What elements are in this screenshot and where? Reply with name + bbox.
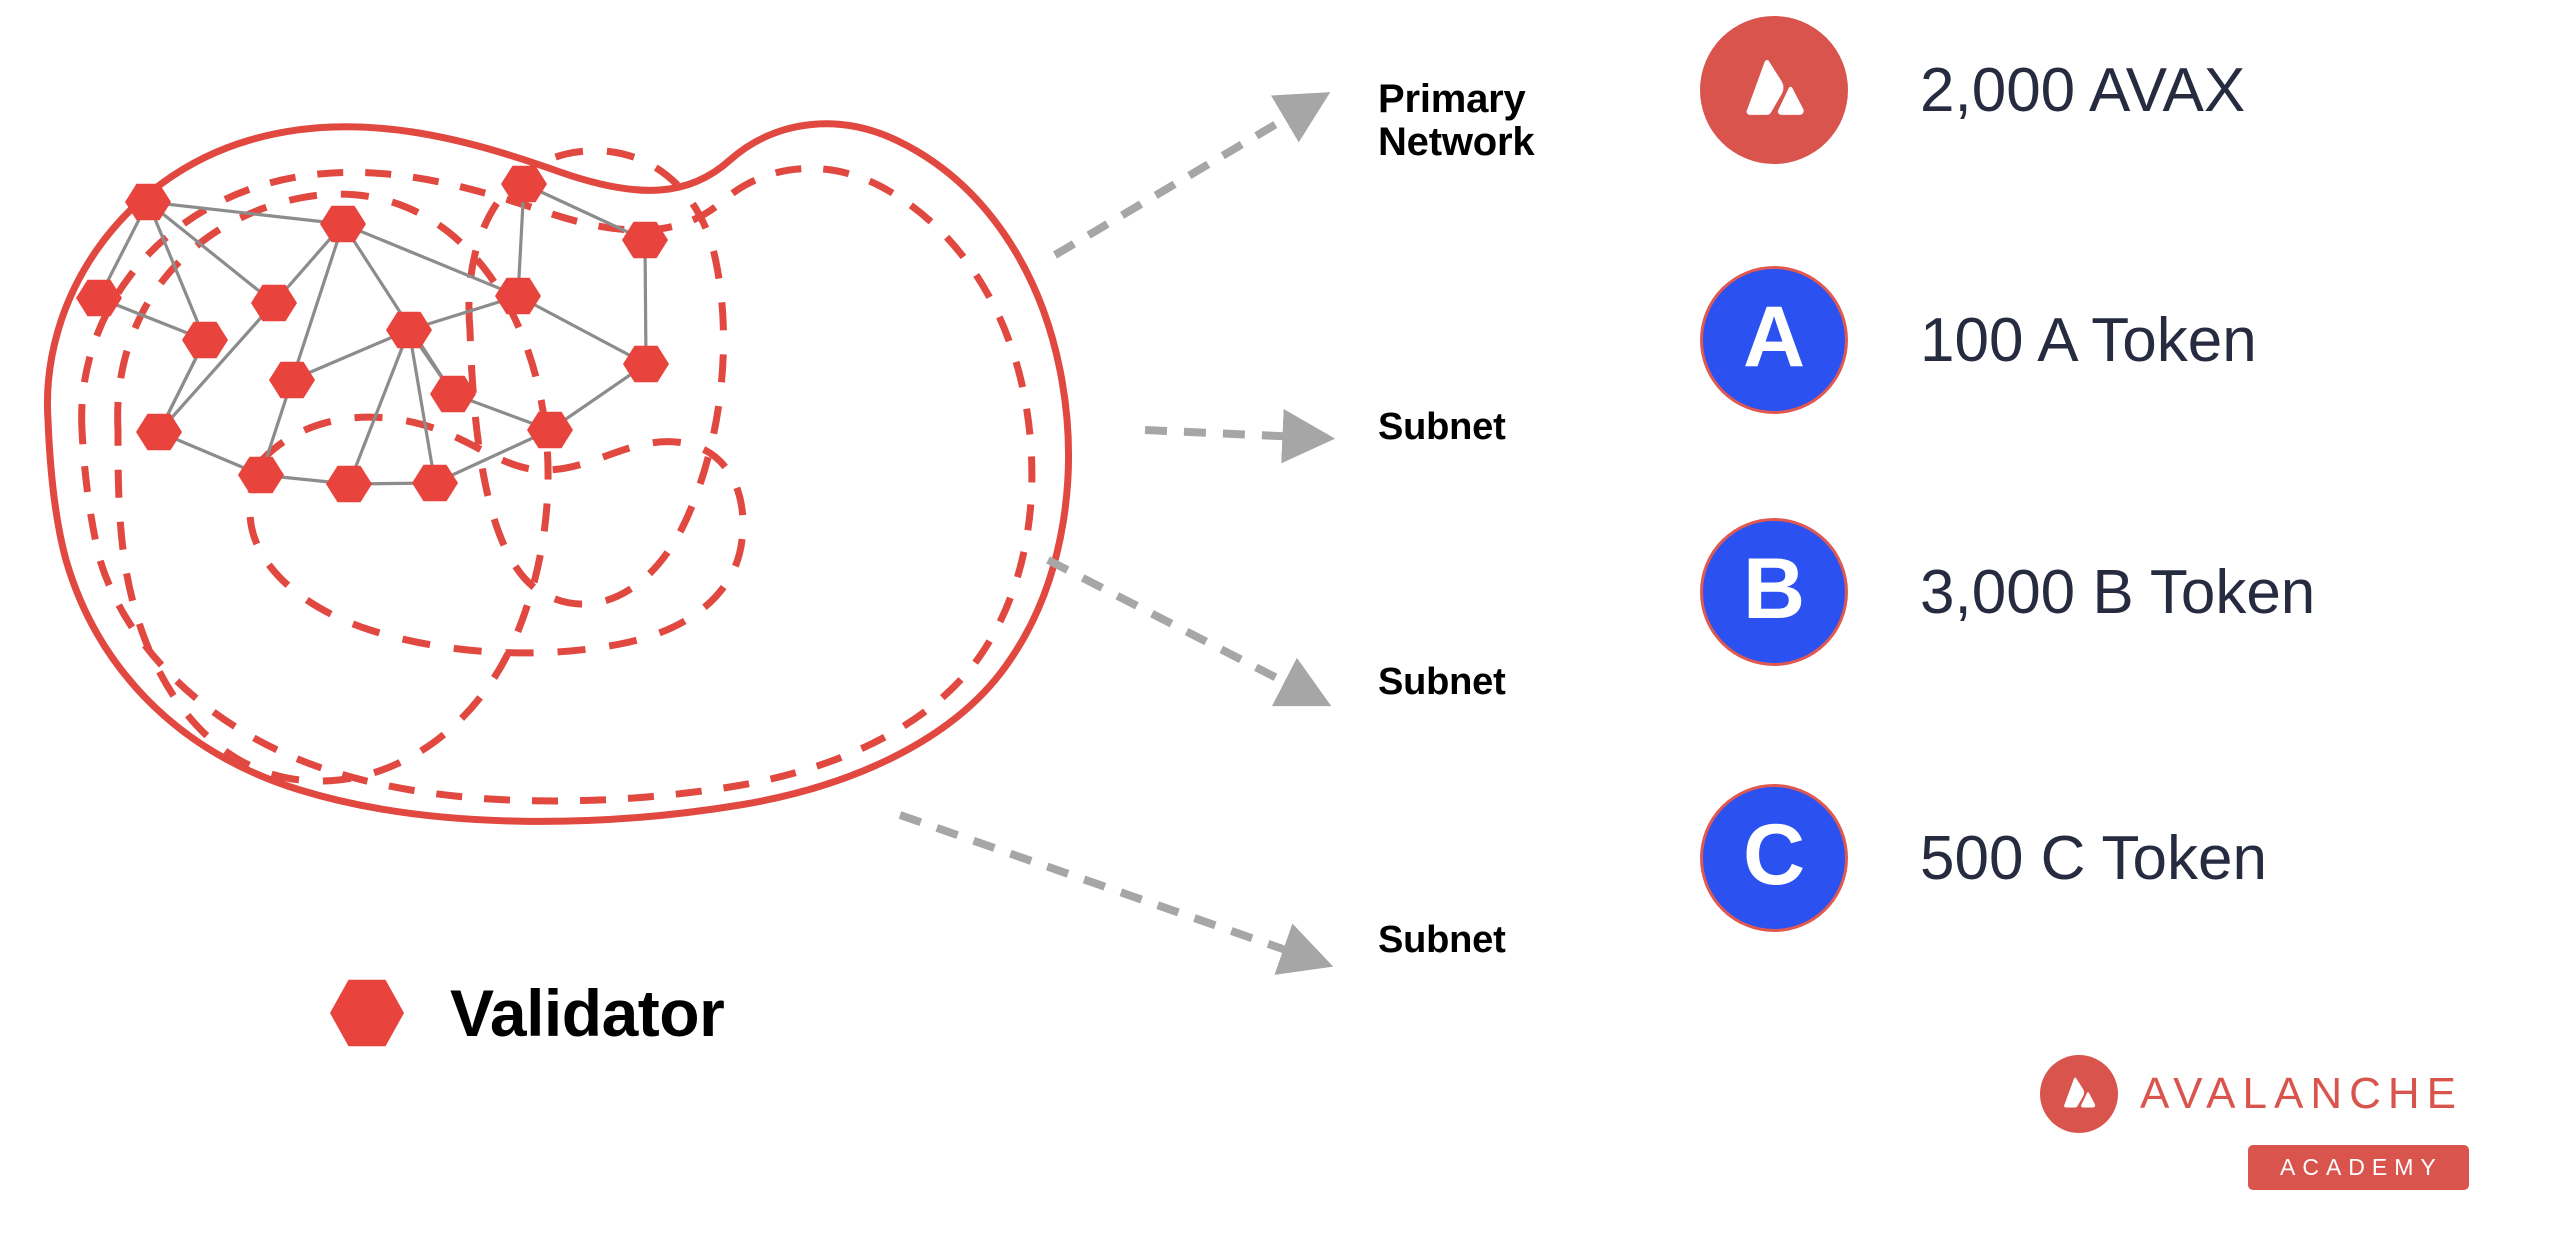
callout-subnet-c: Subnet [1378, 920, 1506, 961]
avax-logo-icon [1700, 16, 1848, 164]
validator-node [269, 362, 315, 399]
validator-legend: Validator [330, 975, 724, 1051]
network-edge [148, 202, 274, 303]
validator-legend-label: Validator [450, 975, 724, 1051]
validator-node [136, 414, 182, 451]
subnet-a-badge: A [1700, 266, 1848, 414]
subnet-b-badge: B [1700, 518, 1848, 666]
network-edge [518, 296, 646, 364]
token-requirements-list: 2,000 AVAX A 100 A Token B 3,000 B Token… [1700, 0, 2558, 1000]
avalanche-mark-icon [2040, 1055, 2118, 1133]
row-subnet-c: C 500 C Token [1700, 778, 2267, 938]
row-subnet-a: A 100 A Token [1700, 260, 2257, 420]
network-diagram [0, 0, 1460, 1000]
network-edge [292, 224, 343, 380]
validator-node [495, 278, 541, 315]
amount-primary-network: 2,000 AVAX [1920, 55, 2245, 126]
diagram-canvas: Primary Network Subnet Subnet Subnet 2,0… [0, 0, 2558, 1258]
row-subnet-b: B 3,000 B Token [1700, 512, 2315, 672]
callout-subnet-a-label: Subnet [1378, 407, 1506, 448]
validator-node [76, 280, 122, 317]
validator-node [238, 457, 284, 494]
validator-node [386, 312, 432, 349]
arrow-to-subnet-b [1048, 560, 1300, 690]
network-edge [524, 184, 645, 240]
callout-primary-network: Primary Network [1378, 78, 1534, 164]
arrow-to-primary-network [1055, 110, 1300, 255]
academy-pill: ACADEMY [2248, 1145, 2469, 1190]
callout-subnet-a: Subnet [1378, 407, 1506, 448]
callout-primary-network-line1: Primary [1378, 78, 1534, 121]
arrow-to-subnet-a [1145, 430, 1300, 437]
amount-subnet-a: 100 A Token [1920, 305, 2257, 376]
callout-primary-network-line2: Network [1378, 121, 1534, 164]
avalanche-academy-logo: AVALANCHE ACADEMY [2040, 1055, 2469, 1190]
callout-subnet-b-label: Subnet [1378, 662, 1506, 703]
hexagon-icon [330, 976, 404, 1050]
subnet-c-badge: C [1700, 784, 1848, 932]
network-edge [343, 224, 518, 296]
validator-node [182, 322, 228, 359]
amount-subnet-b: 3,000 B Token [1920, 557, 2315, 628]
callout-subnet-c-label: Subnet [1378, 920, 1506, 961]
network-edge [645, 240, 646, 364]
amount-subnet-c: 500 C Token [1920, 823, 2267, 894]
row-primary-network: 2,000 AVAX [1700, 10, 2245, 170]
avalanche-wordmark: AVALANCHE [2140, 1072, 2463, 1116]
validator-node [412, 465, 458, 502]
network-edge [409, 330, 435, 483]
arrow-to-subnet-c [900, 815, 1300, 955]
validator-node [326, 466, 372, 503]
callout-subnet-b: Subnet [1378, 662, 1506, 703]
validator-node [320, 206, 366, 243]
network-edge [148, 202, 343, 224]
